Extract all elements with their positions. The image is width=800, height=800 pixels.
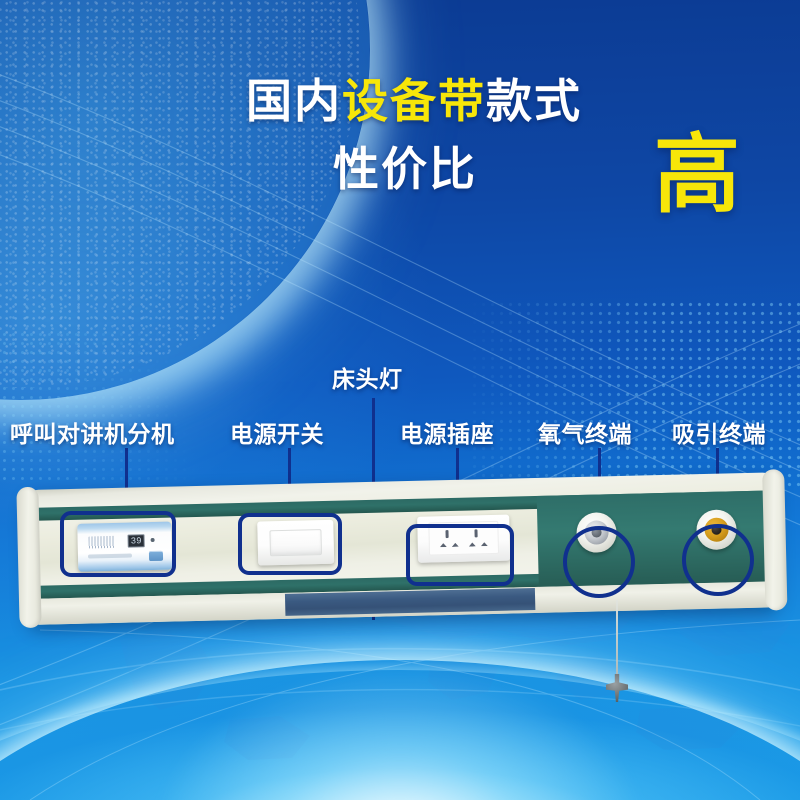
bottom-horizon-arc [0,660,800,800]
halftone-dots-left [0,330,260,480]
callout-power-socket: 电源插座 [400,415,494,449]
panel-endcap-left [16,487,41,628]
highlight-circle-oxygen [563,526,635,598]
headline-seg-equipment-belt: 设备带 [342,75,486,127]
highlight-box-intercom [60,511,176,577]
halftone-dots-right [470,300,800,490]
bottom-center-glow [160,670,640,800]
panel-endcap-right [762,469,787,610]
highlight-circle-suction [682,524,754,596]
promo-banner: 国内设备带款式 性价比 高 呼叫对讲机分机 电源开关 床头灯 电源插座 氧气终端… [0,0,800,800]
bottom-horizon-arc-secondary [0,670,800,800]
headline-line-1: 国内设备带款式 [0,76,800,128]
headline-seg-style: 款式 [486,75,582,127]
callout-intercom: 呼叫对讲机分机 [10,415,175,449]
earth-rim-glow [0,0,370,400]
highlight-box-power-switch [238,513,342,575]
callout-bed-lamp: 床头灯 [332,360,403,394]
callout-oxygen-terminal: 氧气终端 [538,415,632,449]
highlight-box-power-socket [406,524,514,586]
headline-emphasis-word: 高 [654,132,740,218]
callout-suction-terminal: 吸引终端 [672,415,766,449]
headline-seg-value: 性价比 [333,143,477,195]
earth-globe-graphic [0,0,370,400]
headline-seg-domestic: 国内 [246,75,342,127]
pull-cord-handle[interactable] [606,674,628,702]
pull-cord-line [616,600,618,678]
callout-power-switch: 电源开关 [230,415,324,449]
